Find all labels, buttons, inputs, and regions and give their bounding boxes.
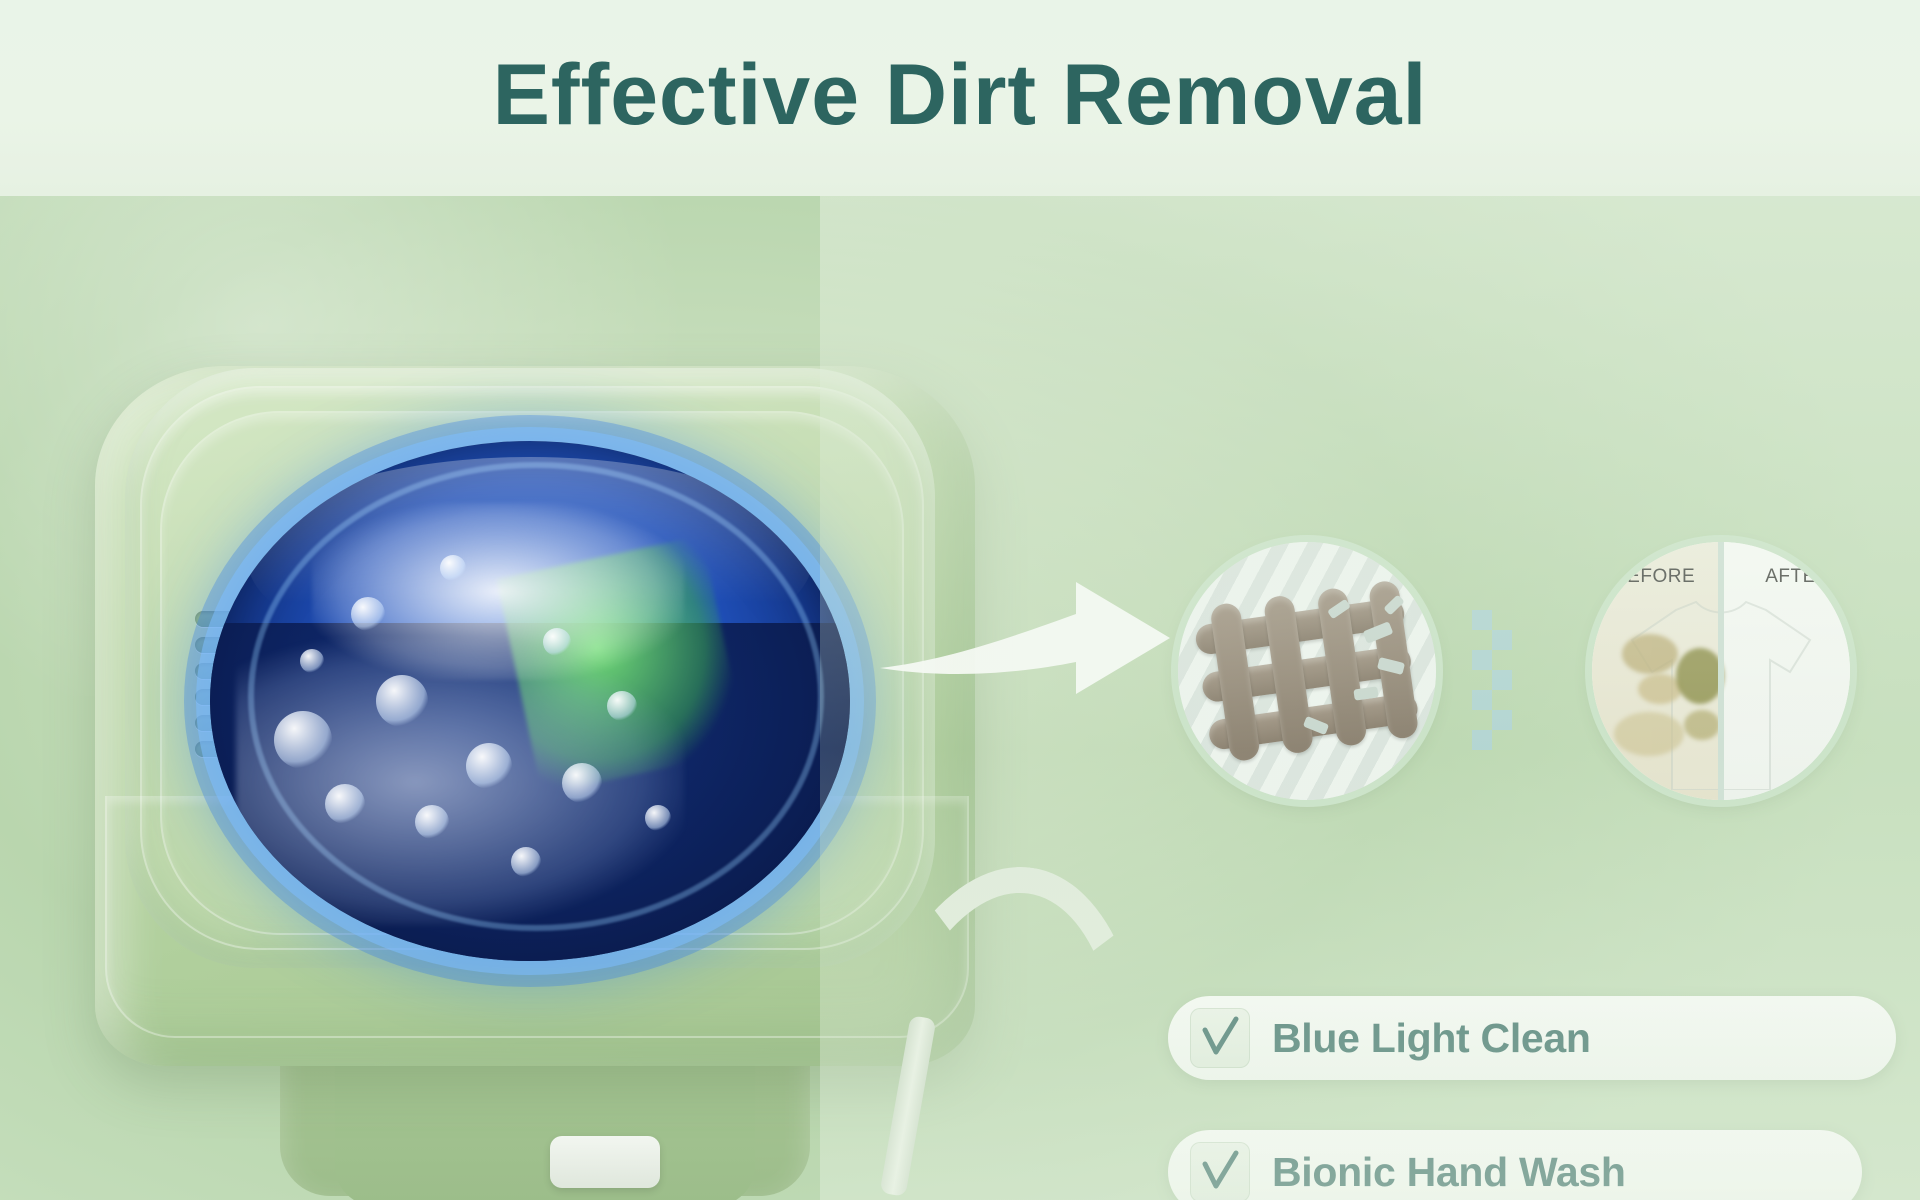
- header-band: Effective Dirt Removal: [0, 0, 1920, 196]
- fabric-fiber-closeup: [1178, 542, 1436, 800]
- before-label: BEFORE: [1614, 566, 1695, 588]
- before-after-shirt: BEFORE AFTER: [1592, 542, 1850, 800]
- white-arrow-icon: [880, 576, 1180, 706]
- feature-label: Bionic Hand Wash: [1272, 1149, 1626, 1196]
- drum-foam-band: [236, 639, 684, 925]
- machine-drum: [210, 441, 850, 961]
- fabric-weave: [1193, 587, 1422, 765]
- promo-banner: Effective Dirt Removal: [0, 0, 1920, 1200]
- check-icon: [1190, 1008, 1250, 1068]
- feature-list: Blue Light Clean Bionic Hand Wash Powerf…: [1168, 996, 1868, 1200]
- hose-nozzle: [550, 1136, 660, 1188]
- washing-machine: [80, 196, 1010, 1186]
- feature-label: Blue Light Clean: [1272, 1015, 1591, 1062]
- check-icon: [1190, 1142, 1250, 1200]
- feature-item-blue-light-clean[interactable]: Blue Light Clean: [1168, 996, 1896, 1080]
- pixel-zigzag-divider: [1464, 610, 1564, 770]
- page-title: Effective Dirt Removal: [493, 52, 1428, 138]
- product-photo: BEFORE AFTER Blue Light Clean Bio: [0, 196, 1920, 1200]
- after-label: AFTER: [1765, 566, 1830, 588]
- feature-item-bionic-hand-wash[interactable]: Bionic Hand Wash: [1168, 1130, 1862, 1200]
- before-after-divider: [1718, 542, 1724, 800]
- drum-gloss: [248, 457, 811, 665]
